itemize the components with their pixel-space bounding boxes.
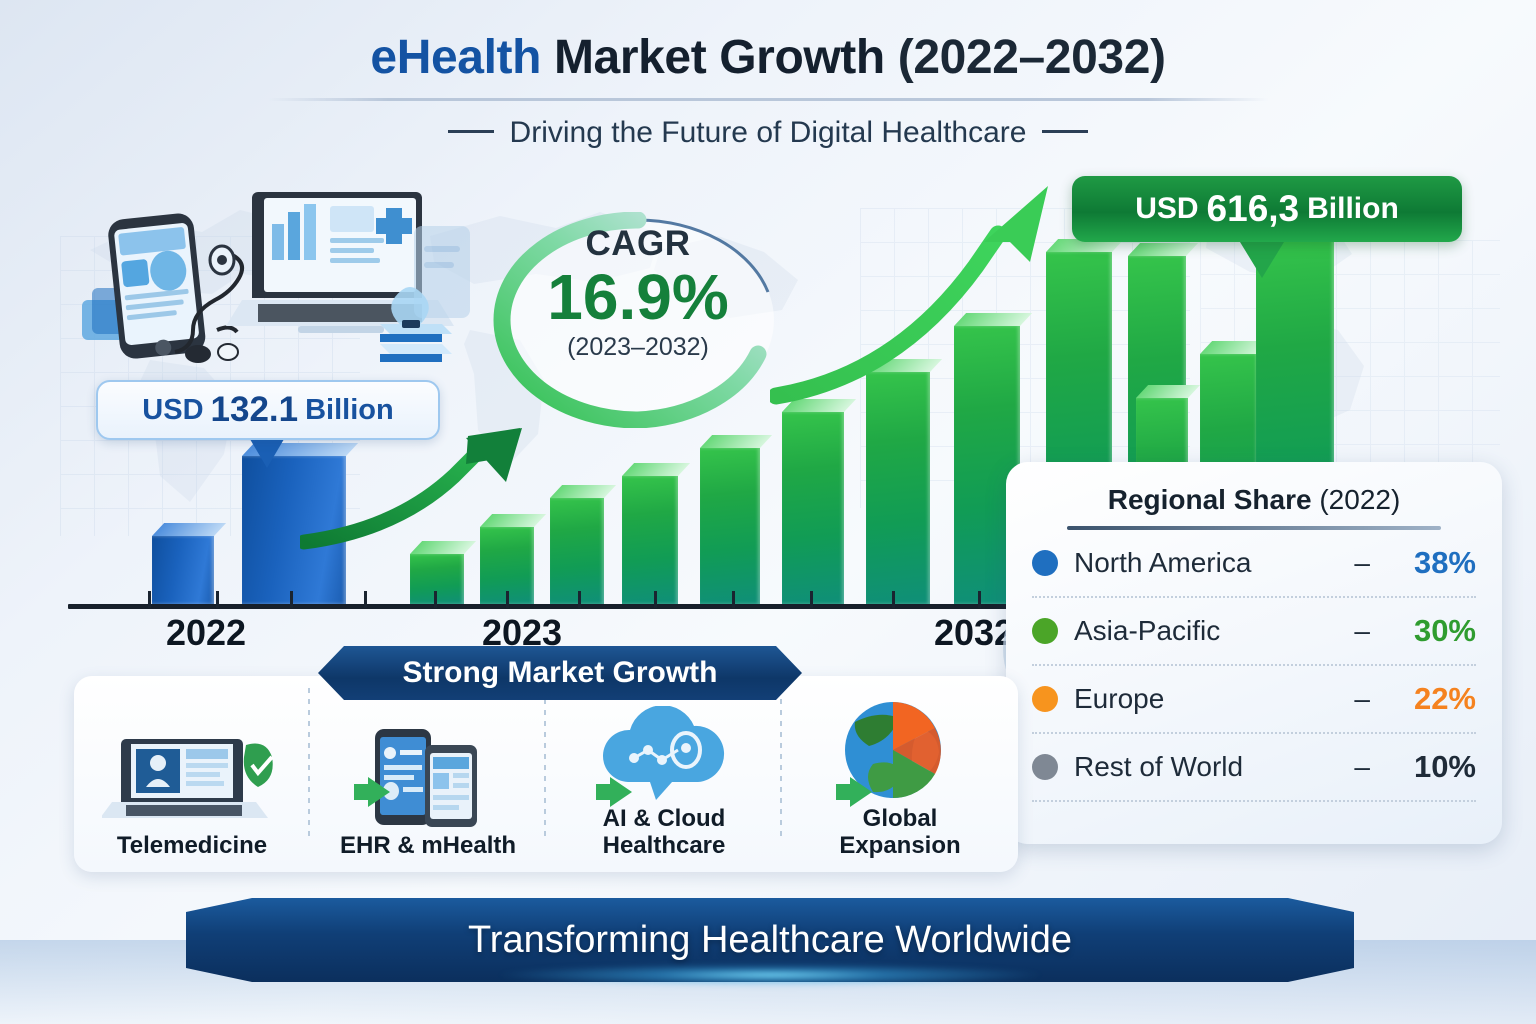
start-amount: 132.1 [211,390,299,430]
strong-market-growth-ribbon: Strong Market Growth [318,646,802,700]
end-currency: USD [1135,192,1198,226]
flow-label-telemedicine: Telemedicine [117,833,267,860]
title-main: Market Growth [541,31,898,84]
legend-dot-asia-pacific [1032,618,1058,644]
regional-row-europe[interactable]: Europe – 22% [1032,666,1476,734]
flow-arrow-tail-1 [354,784,368,800]
legend-dot-north-america [1032,550,1058,576]
start-currency: USD [142,394,203,427]
flow-arrow-tail-3 [836,784,850,800]
cagr-value: 16.9% [492,266,784,329]
subtitle-text: Driving the Future of Digital Healthcare [510,116,1027,149]
start-value-callout: USD 132.1 Billion [96,380,440,440]
end-unit: Billion [1307,192,1399,226]
end-callout-pointer [1240,242,1284,278]
region-value-europe: 22% [1382,681,1476,717]
legend-dot-europe [1032,686,1058,712]
region-value-asia-pacific: 30% [1382,613,1476,649]
regional-share-panel: Regional Share (2022) North America – 38… [1006,462,1502,844]
start-unit: Billion [305,394,394,427]
flow-step-global-expansion[interactable]: Global Expansion [782,664,1018,872]
region-dash-1: – [1354,615,1370,647]
region-value-rest-of-world: 10% [1382,749,1476,785]
cagr-period: (2023–2032) [492,333,784,362]
bar-2028 [782,412,844,604]
flow-arrow-1-icon [368,777,390,807]
page-title: eHealth Market Growth (2022–2032) [0,30,1536,85]
laptop-video-consult-icon [102,725,282,829]
bar-2029 [866,372,930,604]
flow-label-ehr-mhealth: EHR & mHealth [340,833,516,860]
region-value-north-america: 38% [1382,545,1476,581]
region-label-north-america: North America [1074,547,1342,579]
flow-arrow-tail-2 [596,784,610,800]
regional-title-year: (2022) [1319,484,1400,515]
bar-2026 [622,476,678,604]
legend-dot-rest-of-world [1032,754,1058,780]
subtitle-dash-right [1042,130,1088,133]
bottom-banner-text: Transforming Healthcare Worldwide [468,919,1072,962]
region-dash-2: – [1354,683,1370,715]
bar-2021 [152,536,214,604]
flow-step-telemedicine[interactable]: Telemedicine [74,664,310,872]
cagr-label: CAGR [492,224,784,264]
region-dash-3: – [1354,751,1370,783]
regional-row-rest-of-world[interactable]: Rest of World – 10% [1032,734,1476,802]
infographic-canvas: eHealth Market Growth (2022–2032) Drivin… [0,0,1536,1024]
region-label-asia-pacific: Asia-Pacific [1074,615,1342,647]
regional-title-main: Regional Share [1108,484,1312,515]
ehealth-devices-illustration [62,168,492,378]
page-subtitle: Driving the Future of Digital Healthcare [0,116,1536,150]
regional-share-title: Regional Share (2022) [1006,484,1502,516]
banner-glow [500,964,1040,986]
title-brand: eHealth [370,31,541,84]
end-amount: 616,3 [1207,188,1300,230]
region-label-rest-of-world: Rest of World [1074,751,1342,783]
growth-driver-flow: Telemedicine [74,676,1018,872]
flow-arrow-2-icon [610,777,632,807]
bar-2023 [410,554,464,604]
ribbon-label: Strong Market Growth [402,656,717,690]
axis-label-2022: 2022 [106,612,306,654]
regional-row-asia-pacific[interactable]: Asia-Pacific – 30% [1032,598,1476,666]
title-divider [268,98,1268,101]
end-value-callout: USD 616,3 Billion [1072,176,1462,242]
upward-growth-arrow-large [770,176,1080,406]
title-years: (2022–2032) [898,31,1166,84]
region-label-europe: Europe [1074,683,1342,715]
cagr-badge: CAGR 16.9% (2023–2032) [492,212,784,428]
flow-label-ai-cloud: AI & Cloud Healthcare [603,806,726,860]
flow-arrow-3-icon [850,777,872,807]
flow-label-global-expansion: Global Expansion [839,806,960,860]
region-dash-0: – [1354,547,1370,579]
bar-2027 [700,448,760,604]
subtitle-dash-left [448,130,494,133]
regional-row-north-america[interactable]: North America – 38% [1032,530,1476,598]
